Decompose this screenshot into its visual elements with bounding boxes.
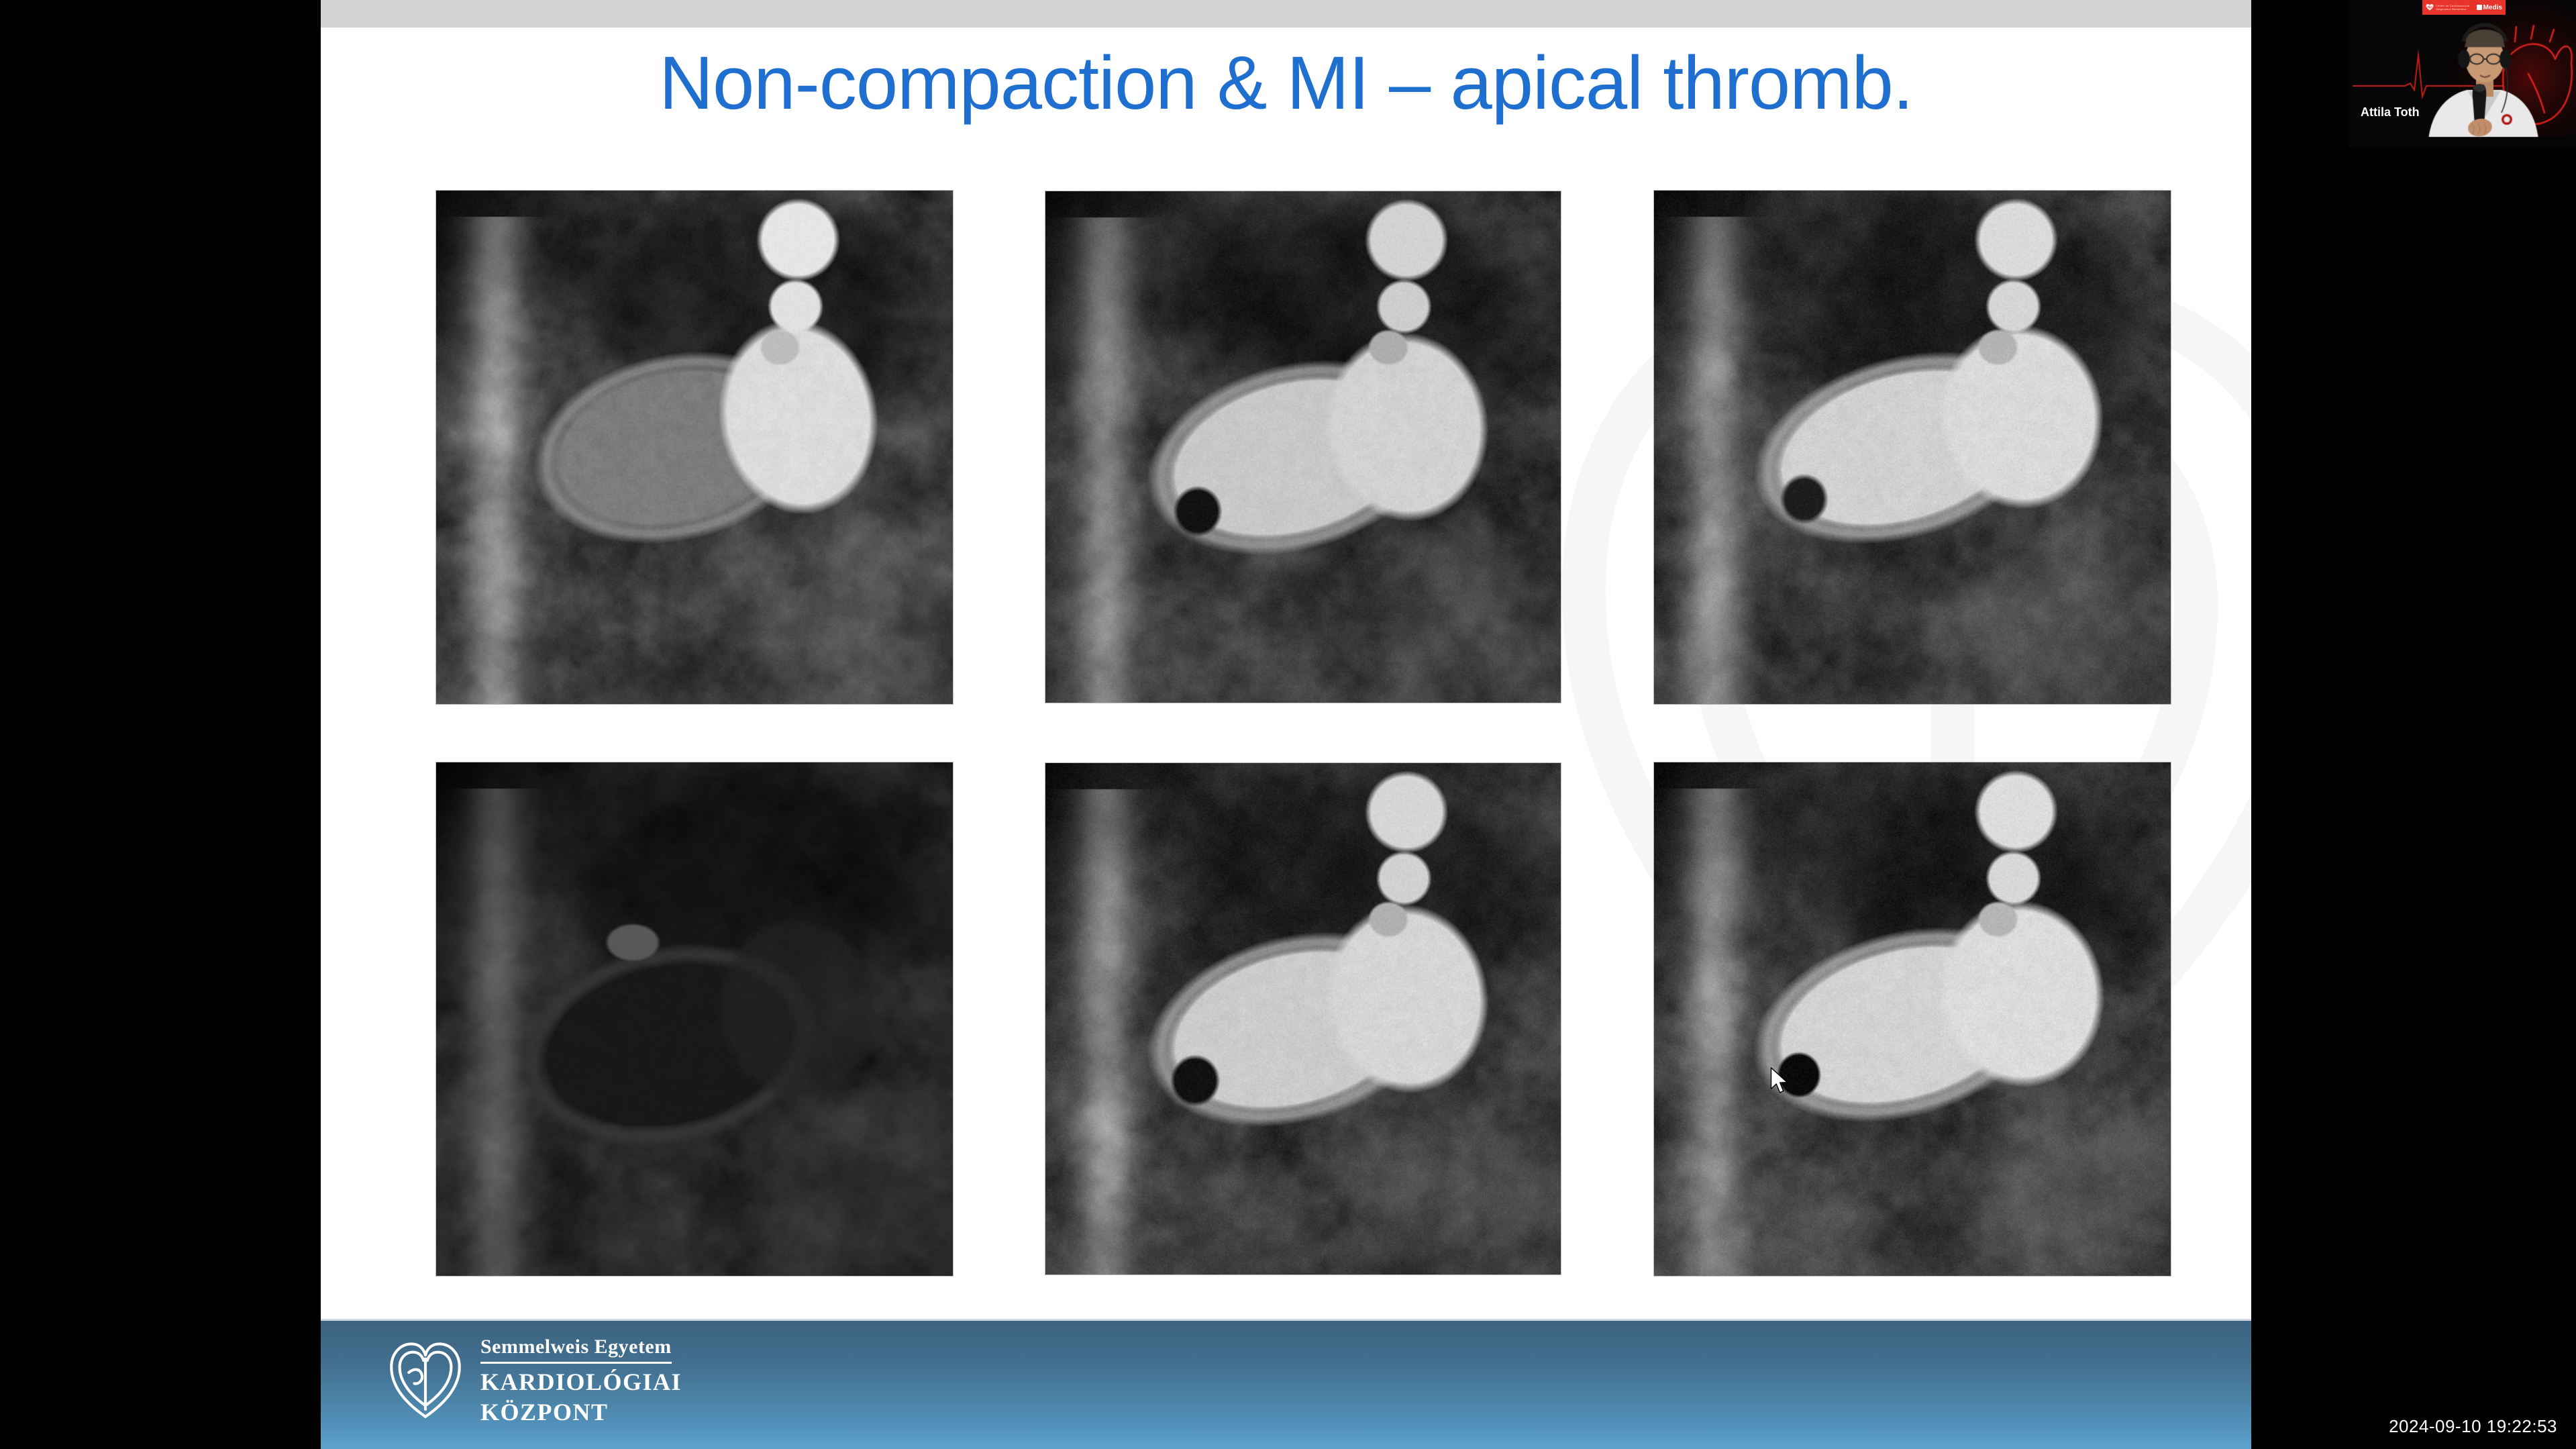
medis-logo-mark-icon [2477, 5, 2482, 10]
slide-top-bar [321, 0, 2251, 28]
mri-image-r2c2[interactable] [1045, 763, 1561, 1275]
mri-image-r1c3[interactable] [1654, 191, 2171, 704]
slide-content-area: Non-compaction & MI – apical thromb. [321, 28, 2251, 1321]
footer-department-line2: KÖZPONT [480, 1400, 682, 1424]
mri-canvas-r1c1 [436, 191, 953, 704]
mri-canvas-r1c2 [1045, 191, 1561, 703]
mri-image-grid [436, 191, 2167, 1278]
sponsor-banner-left: Center for Cardiovascular Diagnostics Bi… [2426, 3, 2470, 11]
page-title: Non-compaction & MI – apical thromb. [321, 40, 2251, 126]
timestamp-label: 2024-09-10 19:22:53 [2389, 1416, 2557, 1437]
footer-text-block: Semmelweis Egyetem KARDIOLÓGIAI KÖZPONT [480, 1337, 682, 1424]
mri-image-r1c2[interactable] [1045, 191, 1561, 703]
sponsor-heart-icon [2426, 3, 2434, 11]
mri-image-r1c1[interactable] [436, 191, 953, 704]
mri-image-r2c1[interactable] [436, 762, 953, 1276]
mri-image-r2c3[interactable] [1654, 762, 2171, 1276]
sponsor-banner-caption: Center for Cardiovascular Diagnostics Bi… [2436, 4, 2470, 11]
footer-branding: Semmelweis Egyetem KARDIOLÓGIAI KÖZPONT [388, 1337, 682, 1424]
presenter-name-label: Attila Toth [2361, 105, 2420, 119]
screen-root: Non-compaction & MI – apical thromb. [0, 0, 2576, 1449]
sponsor-banner-right: Medis [2477, 4, 2502, 11]
footer-department-line1: KARDIOLÓGIAI [480, 1370, 682, 1394]
footer-university-name: Semmelweis Egyetem [480, 1337, 672, 1364]
medis-logo-text: Medis [2483, 4, 2502, 11]
mri-canvas-r2c3 [1654, 762, 2171, 1276]
mri-canvas-r2c1 [436, 762, 953, 1276]
mri-canvas-r1c3 [1654, 191, 2171, 704]
webcam-video-canvas [2349, 0, 2576, 148]
presentation-slide[interactable]: Non-compaction & MI – apical thromb. [321, 0, 2251, 1449]
presenter-webcam-overlay[interactable]: Center for Cardiovascular Diagnostics Bi… [2349, 0, 2576, 148]
heart-outline-logo-icon [388, 1340, 463, 1421]
mri-canvas-r2c2 [1045, 763, 1561, 1275]
slide-footer: Semmelweis Egyetem KARDIOLÓGIAI KÖZPONT [321, 1319, 2251, 1449]
sponsor-banner: Center for Cardiovascular Diagnostics Bi… [2422, 0, 2506, 15]
